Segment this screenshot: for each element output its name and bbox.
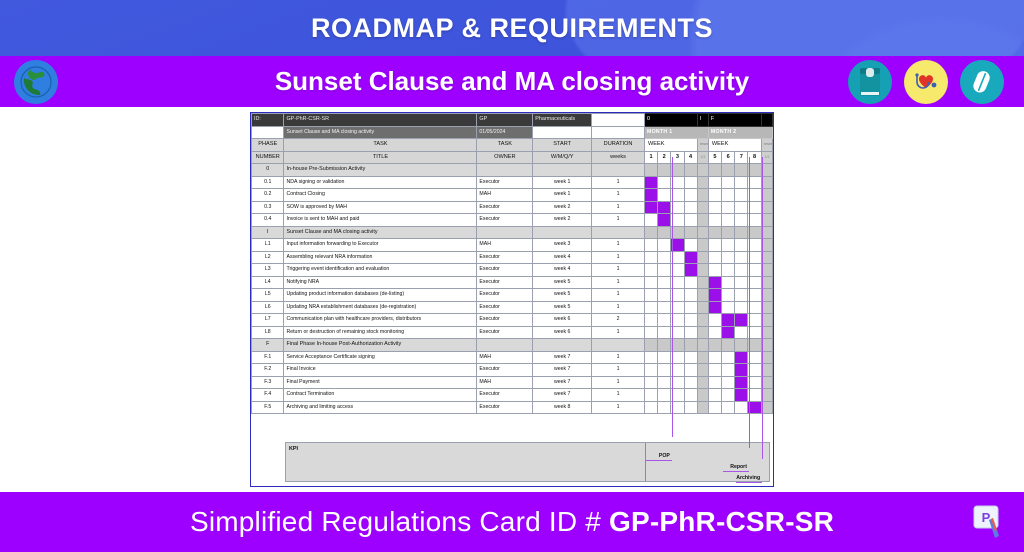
task-duration: 1	[592, 239, 645, 252]
task-duration: 1	[592, 289, 645, 302]
week-num-6: 6	[722, 151, 735, 164]
phase-week-cell	[644, 164, 657, 177]
phase-id: F	[252, 339, 284, 352]
task-title: Communication plan with healthcare provi…	[284, 314, 477, 327]
table-row[interactable]: L3Triggering event identification and ev…	[252, 264, 773, 277]
phase-marker-1: I	[697, 114, 708, 127]
week-cell	[684, 214, 697, 227]
phase-week-cell	[722, 339, 735, 352]
gantt-bar	[685, 264, 697, 276]
table-row[interactable]: 0.2Contract ClosingMAHweek 11	[252, 189, 773, 202]
table-row[interactable]: L1Input information forwarding to Execut…	[252, 239, 773, 252]
svg-text:P: P	[982, 510, 991, 525]
phase-week-cell	[658, 339, 671, 352]
task-start: week 5	[533, 289, 592, 302]
task-duration: 1	[592, 301, 645, 314]
task-owner: Executor	[477, 401, 533, 414]
reserve-cell	[697, 351, 708, 364]
week-cell	[658, 214, 671, 227]
gantt-bar	[722, 327, 734, 339]
task-duration: 1	[592, 326, 645, 339]
table-row[interactable]: 0.4Invoice is sent to MAH and paidExecut…	[252, 214, 773, 227]
task-id: 0.3	[252, 201, 284, 214]
week-num-2: 2	[658, 151, 671, 164]
week-cell	[684, 176, 697, 189]
week-cell	[658, 351, 671, 364]
task-duration: 1	[592, 389, 645, 402]
week-cell	[735, 201, 748, 214]
gantt-rows: 0In-house Pre-Submission Activity0.1NDA …	[252, 164, 773, 414]
reserve-cell	[697, 239, 708, 252]
task-title: Notifying NRA	[284, 276, 477, 289]
book-icon	[848, 60, 892, 104]
reserve-cell	[697, 251, 708, 264]
sheet-meta-row: ID: GP-PhR-CSR-SR GP Pharmaceuticals 0 I…	[252, 114, 773, 127]
column-header-row-2: NUMBER TITLE OWNER W/M/Q/Y weeks 1 2 3 4…	[252, 151, 773, 164]
phase-week-cell	[658, 226, 671, 239]
task-id: L4	[252, 276, 284, 289]
sheet-title: Sunset Clause and MA closing activity	[284, 126, 477, 139]
task-id: F.4	[252, 389, 284, 402]
week-cell	[708, 264, 721, 277]
task-start: week 3	[533, 239, 592, 252]
reserve-cell	[697, 189, 708, 202]
task-owner: Executor	[477, 289, 533, 302]
footer-text: Simplified Regulations Card ID # GP-PhR-…	[190, 506, 834, 538]
week-cell	[684, 201, 697, 214]
meta2-blank3	[592, 126, 645, 139]
week-cell	[684, 251, 697, 264]
task-id: L1	[252, 239, 284, 252]
gantt-bar	[645, 202, 657, 214]
task-id: 0.2	[252, 189, 284, 202]
col-duration-2: weeks	[592, 151, 645, 164]
task-title: Updating product information databases (…	[284, 289, 477, 302]
kpi-milestone-underline	[646, 460, 672, 461]
task-id: L7	[252, 314, 284, 327]
week-cell	[722, 264, 735, 277]
col-owner: TASK	[477, 139, 533, 152]
week-cell	[644, 239, 657, 252]
gantt-bar	[685, 252, 697, 264]
task-owner: Executor	[477, 201, 533, 214]
task-duration: 1	[592, 214, 645, 227]
phase-name: In-house Pre-Submission Activity	[284, 164, 477, 177]
gantt-bar	[671, 239, 683, 251]
gantt-bar	[735, 377, 747, 389]
table-row[interactable]: F.1Service Acceptance Certificate signin…	[252, 351, 773, 364]
table-row[interactable]: 0.3SOW is approved by MAHExecutorweek 21	[252, 201, 773, 214]
task-title: Assembling relevant NRA information	[284, 251, 477, 264]
phase-start	[533, 339, 592, 352]
task-start: week 7	[533, 389, 592, 402]
week-cell	[708, 376, 721, 389]
week-cell	[708, 214, 721, 227]
task-title: Service Acceptance Certificate signing	[284, 351, 477, 364]
week-cell	[708, 251, 721, 264]
phase-week-cell	[708, 164, 721, 177]
week-cell	[735, 214, 748, 227]
milestone-line	[762, 157, 763, 459]
task-duration: 1	[592, 401, 645, 414]
week-cell	[644, 264, 657, 277]
phase-owner	[477, 339, 533, 352]
week-cell	[644, 376, 657, 389]
task-duration: 1	[592, 276, 645, 289]
week-cell	[658, 276, 671, 289]
footer-label: Simplified Regulations Card ID #	[190, 506, 609, 537]
reserve-cell	[697, 289, 708, 302]
task-id: L8	[252, 326, 284, 339]
gantt-bar	[645, 177, 657, 189]
task-owner: Executor	[477, 389, 533, 402]
phase-duration	[592, 339, 645, 352]
phase-week-cell	[684, 164, 697, 177]
milestone-line	[749, 157, 750, 448]
phase-duration	[592, 164, 645, 177]
month-2-label: MONTH 2	[708, 126, 772, 139]
week-cell	[644, 301, 657, 314]
kpi-box: KPI POPReportArchiving	[285, 442, 770, 482]
week-cell	[735, 364, 748, 377]
task-owner: Executor	[477, 264, 533, 277]
phase-week-cell	[708, 339, 721, 352]
task-owner: Executor	[477, 214, 533, 227]
col-reserve-1: reserve	[697, 139, 708, 152]
week-cell	[735, 351, 748, 364]
week-cell	[735, 239, 748, 252]
task-start: week 1	[533, 176, 592, 189]
id-label: ID:	[252, 114, 284, 127]
phase-marker-end	[761, 114, 772, 127]
col-phase-2: NUMBER	[252, 151, 284, 164]
owner-code: GP	[477, 114, 533, 127]
task-id: 0.4	[252, 214, 284, 227]
reserve-cell	[697, 201, 708, 214]
reserve-sub-1: 1/3	[697, 151, 708, 164]
reserve-cell	[697, 401, 708, 414]
week-cell	[722, 176, 735, 189]
week-cell	[644, 351, 657, 364]
month-1-label: MONTH 1	[644, 126, 708, 139]
week-cell	[722, 239, 735, 252]
meta-blank	[592, 114, 645, 127]
table-row[interactable]: L4Notifying NRAExecutorweek 51	[252, 276, 773, 289]
footer-bar: Simplified Regulations Card ID # GP-PhR-…	[0, 492, 1024, 552]
week-cell	[735, 189, 748, 202]
kpi-milestone-underline	[736, 482, 762, 483]
week-cell	[722, 289, 735, 302]
task-title: Contract Termination	[284, 389, 477, 402]
week-cell	[658, 301, 671, 314]
reserve-cell	[697, 264, 708, 277]
table-row[interactable]: L5Updating product information databases…	[252, 289, 773, 302]
task-start: week 2	[533, 201, 592, 214]
task-start: week 2	[533, 214, 592, 227]
task-duration: 2	[592, 314, 645, 327]
week-cell	[684, 376, 697, 389]
sheet-date: 01/05/2024	[477, 126, 533, 139]
week-cell	[644, 314, 657, 327]
table-row[interactable]: 0.1NDA signing or validationExecutorweek…	[252, 176, 773, 189]
week-cell	[708, 276, 721, 289]
task-id: L2	[252, 251, 284, 264]
reserve-cell	[697, 376, 708, 389]
week-cell	[684, 239, 697, 252]
week-cell	[722, 389, 735, 402]
table-row[interactable]: F.5Archiving and limiting accessExecutor…	[252, 401, 773, 414]
task-id: F.2	[252, 364, 284, 377]
task-owner: Executor	[477, 314, 533, 327]
week-cell	[684, 389, 697, 402]
gantt-sheet: ID: GP-PhR-CSR-SR GP Pharmaceuticals 0 I…	[250, 112, 774, 487]
task-start: week 8	[533, 401, 592, 414]
task-owner: MAH	[477, 189, 533, 202]
phase-owner	[477, 226, 533, 239]
table-row[interactable]: F.2Final InvoiceExecutorweek 71	[252, 364, 773, 377]
task-title: Updating NRA establishment databases (de…	[284, 301, 477, 314]
week-cell	[722, 351, 735, 364]
week-cell	[644, 276, 657, 289]
task-duration: 1	[592, 364, 645, 377]
sector-value: Pharmaceuticals	[533, 114, 592, 127]
week-cell	[658, 189, 671, 202]
task-duration: 1	[592, 376, 645, 389]
week-cell	[708, 189, 721, 202]
pill-icon	[960, 60, 1004, 104]
reserve-cell	[697, 176, 708, 189]
week-cell	[684, 326, 697, 339]
week-cell	[684, 264, 697, 277]
week-cell	[735, 389, 748, 402]
week-cell	[658, 376, 671, 389]
task-start: week 7	[533, 351, 592, 364]
week-cell	[658, 201, 671, 214]
reserve-cell	[697, 314, 708, 327]
week-cell	[708, 401, 721, 414]
week-cell	[684, 314, 697, 327]
task-id: 0.1	[252, 176, 284, 189]
week-cell	[735, 176, 748, 189]
gantt-bar	[735, 389, 747, 401]
task-start: week 5	[533, 301, 592, 314]
phase-week-cell	[722, 226, 735, 239]
week-cell	[708, 176, 721, 189]
week-cell	[644, 389, 657, 402]
gantt-bar	[645, 189, 657, 201]
task-start: week 6	[533, 326, 592, 339]
footer-card-id: GP-PhR-CSR-SR	[609, 506, 834, 537]
col-start-2: W/M/Q/Y	[533, 151, 592, 164]
table-row[interactable]: L8Return or destruction of remaining sto…	[252, 326, 773, 339]
table-row[interactable]: L2Assembling relevant NRA informationExe…	[252, 251, 773, 264]
task-owner: MAH	[477, 239, 533, 252]
week-cell	[722, 214, 735, 227]
gantt-bar	[735, 314, 747, 326]
task-title: SOW is approved by MAH	[284, 201, 477, 214]
week-num-4: 4	[684, 151, 697, 164]
phase-name: Sunset Clause and MA closing activity	[284, 226, 477, 239]
week-cell	[735, 326, 748, 339]
task-title: Archiving and limiting access	[284, 401, 477, 414]
gantt-bar	[709, 289, 721, 301]
phase-week-cell	[697, 226, 708, 239]
table-row[interactable]: L7Communication plan with healthcare pro…	[252, 314, 773, 327]
task-id: L6	[252, 301, 284, 314]
task-owner: MAH	[477, 376, 533, 389]
phase-week-cell	[735, 226, 748, 239]
task-title: Return or destruction of remaining stock…	[284, 326, 477, 339]
phase-week-cell	[708, 226, 721, 239]
meta2-blank	[252, 126, 284, 139]
week-cell	[644, 176, 657, 189]
reserve-cell	[697, 276, 708, 289]
week-cell	[708, 201, 721, 214]
week-num-1: 1	[644, 151, 657, 164]
id-value: GP-PhR-CSR-SR	[284, 114, 477, 127]
week-cell	[658, 264, 671, 277]
task-id: F.5	[252, 401, 284, 414]
task-start: week 6	[533, 314, 592, 327]
task-start: week 4	[533, 251, 592, 264]
phase-id: 0	[252, 164, 284, 177]
phase-row: FFinal Phase In-house Post-Authorization…	[252, 339, 773, 352]
gantt-bar	[748, 402, 760, 414]
task-duration: 1	[592, 189, 645, 202]
reserve-cell	[697, 389, 708, 402]
task-title: Final Payment	[284, 376, 477, 389]
week-cell	[735, 289, 748, 302]
task-duration: 1	[592, 264, 645, 277]
week-cell	[722, 326, 735, 339]
table-row[interactable]: F.3Final PaymentMAHweek 71	[252, 376, 773, 389]
task-start: week 7	[533, 376, 592, 389]
kpi-label: KPI	[289, 446, 298, 452]
week-cell	[708, 326, 721, 339]
phase-id: I	[252, 226, 284, 239]
col-owner-2: OWNER	[477, 151, 533, 164]
week-cell	[708, 364, 721, 377]
kpi-divider	[645, 443, 646, 481]
sheet-meta-row-2: Sunset Clause and MA closing activity 01…	[252, 126, 773, 139]
week-cell	[644, 364, 657, 377]
task-title: Contract Closing	[284, 189, 477, 202]
phase-week-cell	[697, 339, 708, 352]
week-cell	[684, 276, 697, 289]
task-title: Final Invoice	[284, 364, 477, 377]
gantt-bar	[722, 314, 734, 326]
week-cell	[735, 376, 748, 389]
milestone-line	[672, 157, 673, 437]
kpi-milestone: Report	[730, 464, 747, 470]
table-row[interactable]: L6Updating NRA establishment databases (…	[252, 301, 773, 314]
task-owner: Executor	[477, 251, 533, 264]
week-cell	[658, 176, 671, 189]
gantt-table: ID: GP-PhR-CSR-SR GP Pharmaceuticals 0 I…	[251, 113, 773, 414]
week-cell	[644, 401, 657, 414]
col-task: TASK	[284, 139, 477, 152]
gantt-bar	[658, 202, 670, 214]
task-owner: Executor	[477, 301, 533, 314]
week-cell	[658, 389, 671, 402]
week-cell	[735, 314, 748, 327]
task-id: L3	[252, 264, 284, 277]
week-cell	[708, 351, 721, 364]
week-cell	[658, 251, 671, 264]
task-title: Triggering event identification and eval…	[284, 264, 477, 277]
phase-week-cell	[658, 164, 671, 177]
reserve-cell	[697, 326, 708, 339]
week-cell	[708, 239, 721, 252]
task-owner: Executor	[477, 326, 533, 339]
week-cell	[708, 314, 721, 327]
week-cell	[658, 314, 671, 327]
week-cell	[658, 401, 671, 414]
week-cell	[658, 289, 671, 302]
week-cell	[735, 401, 748, 414]
task-start: week 1	[533, 189, 592, 202]
week-cell	[684, 401, 697, 414]
week-cell	[722, 276, 735, 289]
week-cell	[658, 364, 671, 377]
week-cell	[684, 189, 697, 202]
phase-owner	[477, 164, 533, 177]
reserve-cell	[697, 301, 708, 314]
week-cell	[708, 301, 721, 314]
task-duration: 1	[592, 176, 645, 189]
phase-duration	[592, 226, 645, 239]
phase-week-cell	[684, 339, 697, 352]
task-start: week 7	[533, 364, 592, 377]
week-cell	[735, 251, 748, 264]
week-cell	[722, 201, 735, 214]
phase-row: ISunset Clause and MA closing activity	[252, 226, 773, 239]
task-duration: 1	[592, 201, 645, 214]
reserve-cell	[697, 214, 708, 227]
column-header-row-1: PHASE TASK TASK START DURATION WEEK rese…	[252, 139, 773, 152]
phase-week-cell	[735, 339, 748, 352]
week-cell	[644, 201, 657, 214]
week-cell	[644, 251, 657, 264]
phase-row: 0In-house Pre-Submission Activity	[252, 164, 773, 177]
task-owner: Executor	[477, 176, 533, 189]
gantt-bar	[709, 302, 721, 314]
week-num-5: 5	[708, 151, 721, 164]
meta2-blank2	[533, 126, 592, 139]
week-cell	[722, 376, 735, 389]
week-cell	[684, 301, 697, 314]
reserve-cell	[697, 364, 708, 377]
week-cell	[684, 364, 697, 377]
week-cell	[722, 401, 735, 414]
col-task-2: TITLE	[284, 151, 477, 164]
phase-start	[533, 226, 592, 239]
phase-start	[533, 164, 592, 177]
slide-root: ROADMAP & REQUIREMENTS Sunset Clause and…	[0, 0, 1024, 552]
week-cell	[735, 264, 748, 277]
week-cell	[722, 251, 735, 264]
kpi-strip: KPI POPReportArchiving	[252, 430, 772, 485]
week-cell	[684, 289, 697, 302]
task-id: L5	[252, 289, 284, 302]
table-row[interactable]: F.4Contract TerminationExecutorweek 71	[252, 389, 773, 402]
col-duration: DURATION	[592, 139, 645, 152]
week-cell	[735, 301, 748, 314]
gantt-bar	[735, 364, 747, 376]
phase-marker-f: F	[708, 114, 761, 127]
week-cell	[658, 239, 671, 252]
id-card-icon: P	[964, 500, 1008, 544]
